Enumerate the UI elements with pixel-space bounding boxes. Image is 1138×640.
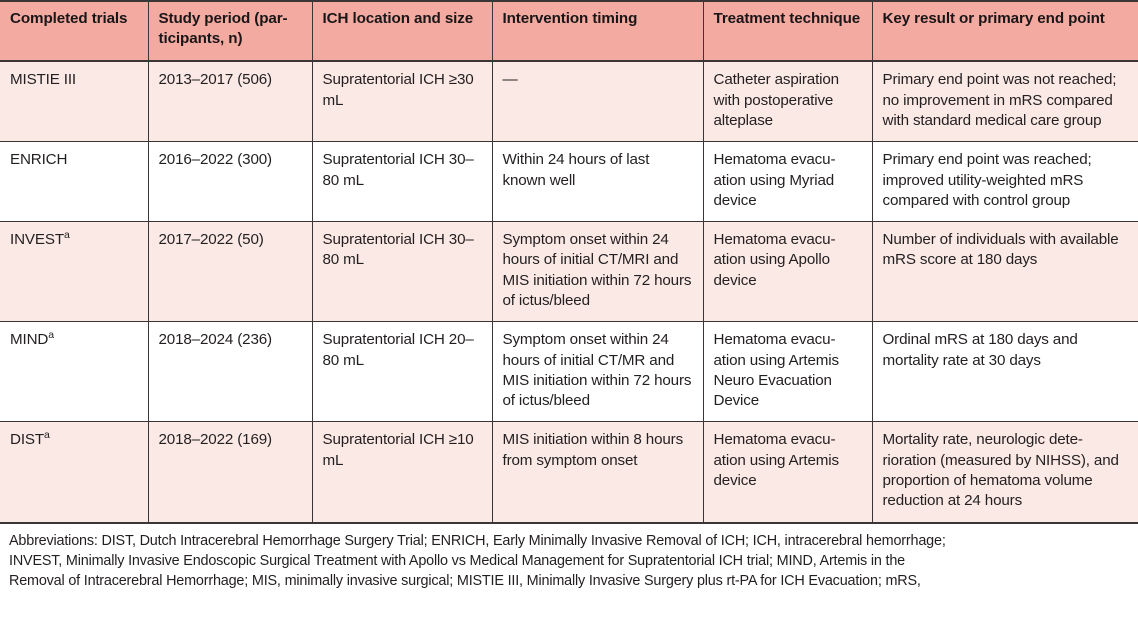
cell-ich-location-size: Supratentorial ICH ≥30 mL xyxy=(312,61,492,141)
cell-intervention-timing: Within 24 hours of last known well xyxy=(492,142,703,222)
footnote-line: Removal of Intracerebral Hemorrhage; MIS… xyxy=(9,571,1129,591)
table-row: INVESTa 2017–2022 (50) Supratentorial IC… xyxy=(0,222,1138,322)
column-header-ich-location-size: ICH location and size xyxy=(312,1,492,61)
trial-footnote-marker: a xyxy=(44,429,50,441)
trial-name-text: DIST xyxy=(10,431,44,448)
trial-name-text: INVEST xyxy=(10,231,64,248)
completed-trials-table: Completed trials Study period (par­ticip… xyxy=(0,0,1138,524)
table-header: Completed trials Study period (par­ticip… xyxy=(0,1,1138,61)
trial-footnote-marker: a xyxy=(48,329,54,341)
cell-key-result: Primary end point was reached; improved … xyxy=(872,142,1138,222)
cell-treatment-technique: Catheter aspiration with postoperative a… xyxy=(703,61,872,141)
cell-trial-name: DISTa xyxy=(0,422,148,523)
footnote-line: Abbreviations: DIST, Dutch Intracerebral… xyxy=(9,531,1129,551)
trial-footnote-marker: a xyxy=(64,229,70,241)
trial-name-text: MIND xyxy=(10,331,48,348)
trials-table-figure: Completed trials Study period (par­ticip… xyxy=(0,0,1138,640)
cell-ich-location-size: Supratentorial ICH 30–80 mL xyxy=(312,222,492,322)
cell-ich-location-size: Supratentorial ICH ≥10 mL xyxy=(312,422,492,523)
cell-study-period: 2016–2022 (300) xyxy=(148,142,312,222)
cell-intervention-timing: — xyxy=(492,61,703,141)
table-row: MISTIE III 2013–2017 (506) Supratentoria… xyxy=(0,61,1138,141)
cell-key-result: Number of individuals with available mRS… xyxy=(872,222,1138,322)
cell-ich-location-size: Supratentorial ICH 30–80 mL xyxy=(312,142,492,222)
cell-study-period: 2018–2024 (236) xyxy=(148,322,312,422)
column-header-study-period: Study period (par­ticipants, n) xyxy=(148,1,312,61)
cell-study-period: 2017–2022 (50) xyxy=(148,222,312,322)
table-body: MISTIE III 2013–2017 (506) Supratentoria… xyxy=(0,61,1138,522)
cell-trial-name: MINDa xyxy=(0,322,148,422)
footnote-line: INVEST, Minimally Invasive Endoscopic Su… xyxy=(9,551,1129,571)
cell-treatment-technique: Hematoma evacu­ation using Artemis devic… xyxy=(703,422,872,523)
table-row: ENRICH 2016–2022 (300) Supratentorial IC… xyxy=(0,142,1138,222)
cell-intervention-timing: MIS initiation within 8 hours from sympt… xyxy=(492,422,703,523)
trial-name-text: MISTIE III xyxy=(10,71,76,88)
cell-ich-location-size: Supratentorial ICH 20–80 mL xyxy=(312,322,492,422)
cell-study-period: 2013–2017 (506) xyxy=(148,61,312,141)
cell-key-result: Ordinal mRS at 180 days and mortality ra… xyxy=(872,322,1138,422)
trial-name-text: ENRICH xyxy=(10,151,67,168)
abbreviations-footnote: Abbreviations: DIST, Dutch Intracerebral… xyxy=(0,524,1138,592)
cell-treatment-technique: Hematoma evacu­ation using Artemis Neuro… xyxy=(703,322,872,422)
table-header-row: Completed trials Study period (par­ticip… xyxy=(0,1,1138,61)
cell-intervention-timing: Symptom onset within 24 hours of initial… xyxy=(492,322,703,422)
table-row: DISTa 2018–2022 (169) Supratentorial ICH… xyxy=(0,422,1138,523)
column-header-treatment-technique: Treatment technique xyxy=(703,1,872,61)
column-header-intervention-timing: Intervention timing xyxy=(492,1,703,61)
cell-trial-name: INVESTa xyxy=(0,222,148,322)
cell-key-result: Mortality rate, neurologic dete­rioratio… xyxy=(872,422,1138,523)
cell-study-period: 2018–2022 (169) xyxy=(148,422,312,523)
table-row: MINDa 2018–2024 (236) Supratentorial ICH… xyxy=(0,322,1138,422)
cell-treatment-technique: Hematoma evacu­ation using Myriad device xyxy=(703,142,872,222)
cell-trial-name: MISTIE III xyxy=(0,61,148,141)
cell-key-result: Primary end point was not reached; no im… xyxy=(872,61,1138,141)
column-header-completed-trials: Completed trials xyxy=(0,1,148,61)
cell-intervention-timing: Symptom onset within 24 hours of initial… xyxy=(492,222,703,322)
column-header-key-result: Key result or primary end point xyxy=(872,1,1138,61)
cell-trial-name: ENRICH xyxy=(0,142,148,222)
cell-treatment-technique: Hematoma evacu­ation using Apollo device xyxy=(703,222,872,322)
